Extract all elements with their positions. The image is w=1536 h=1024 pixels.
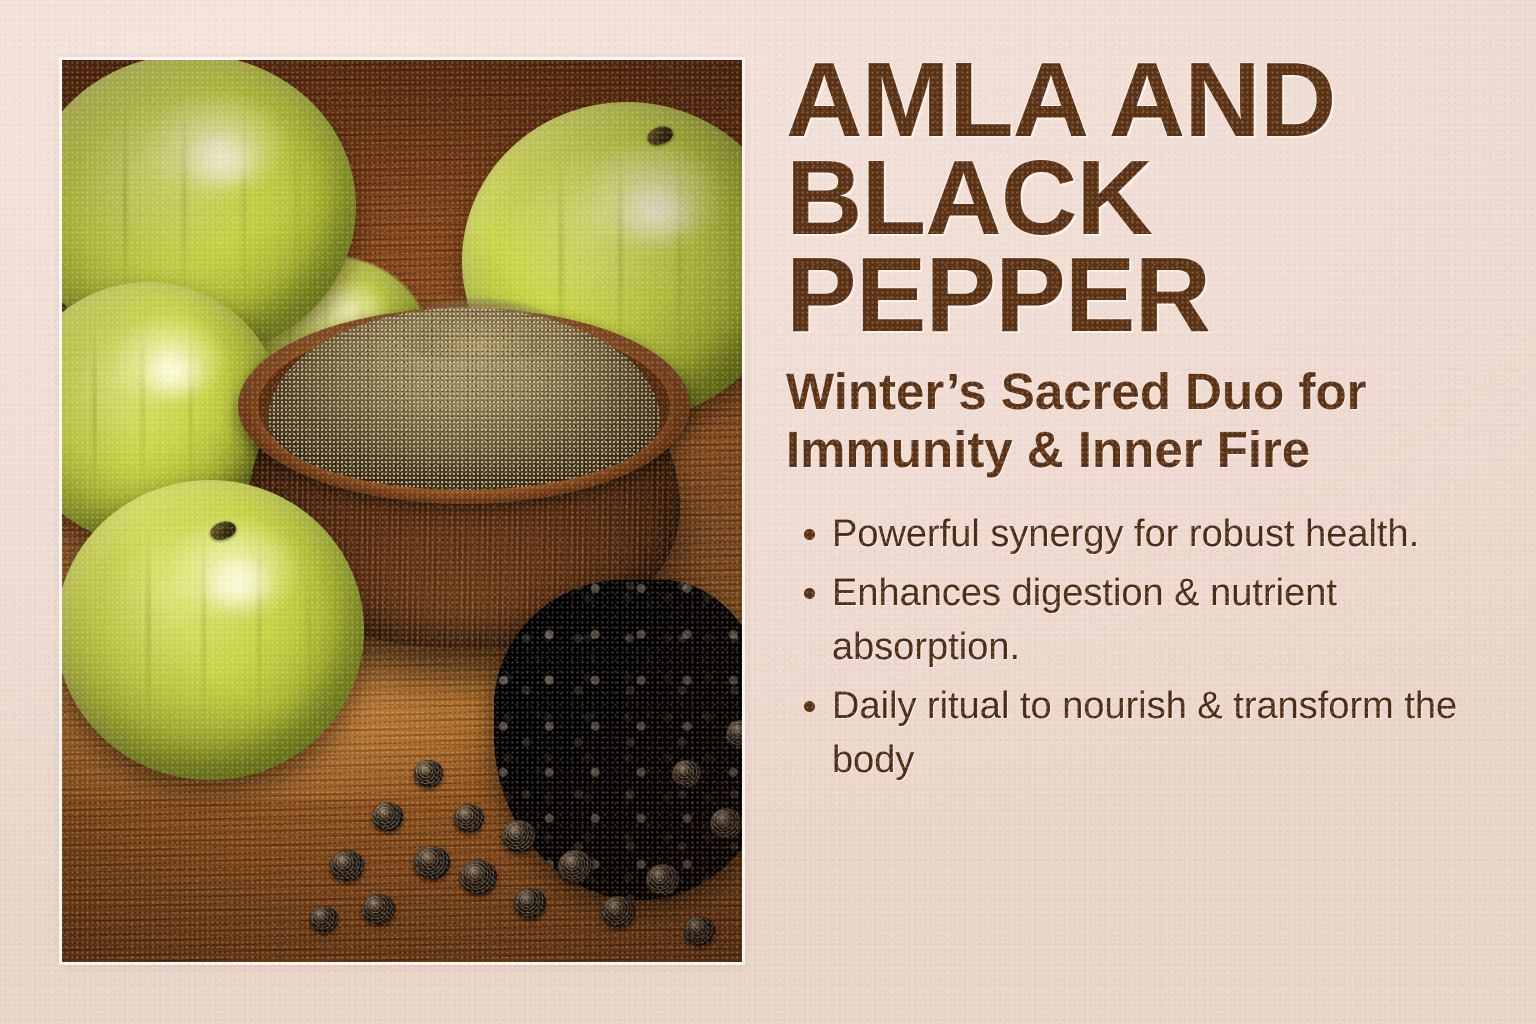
page-subtitle: Winter’s Sacred Duo for Immunity & Inner… xyxy=(786,363,1492,480)
photo-vignette xyxy=(62,60,742,962)
amla-and-black-pepper-photo xyxy=(62,60,742,962)
title-line-3: PEPPER xyxy=(786,247,1492,345)
subtitle-line-2: Immunity & Inner Fire xyxy=(786,421,1492,480)
content-column: AMLA AND BLACK PEPPER Winter’s Sacred Du… xyxy=(786,52,1492,793)
subtitle-line-1: Winter’s Sacred Duo for xyxy=(786,363,1492,422)
title-line-1: AMLA AND xyxy=(786,52,1492,150)
list-item: Daily ritual to nourish & transform the … xyxy=(786,680,1492,788)
page-title: AMLA AND BLACK PEPPER xyxy=(786,52,1492,345)
title-line-2: BLACK xyxy=(786,150,1492,248)
list-item: Powerful synergy for robust health. xyxy=(786,508,1492,562)
list-item: Enhances digestion & nutrient absorption… xyxy=(786,567,1492,675)
benefits-list: Powerful synergy for robust health. Enha… xyxy=(786,508,1492,788)
